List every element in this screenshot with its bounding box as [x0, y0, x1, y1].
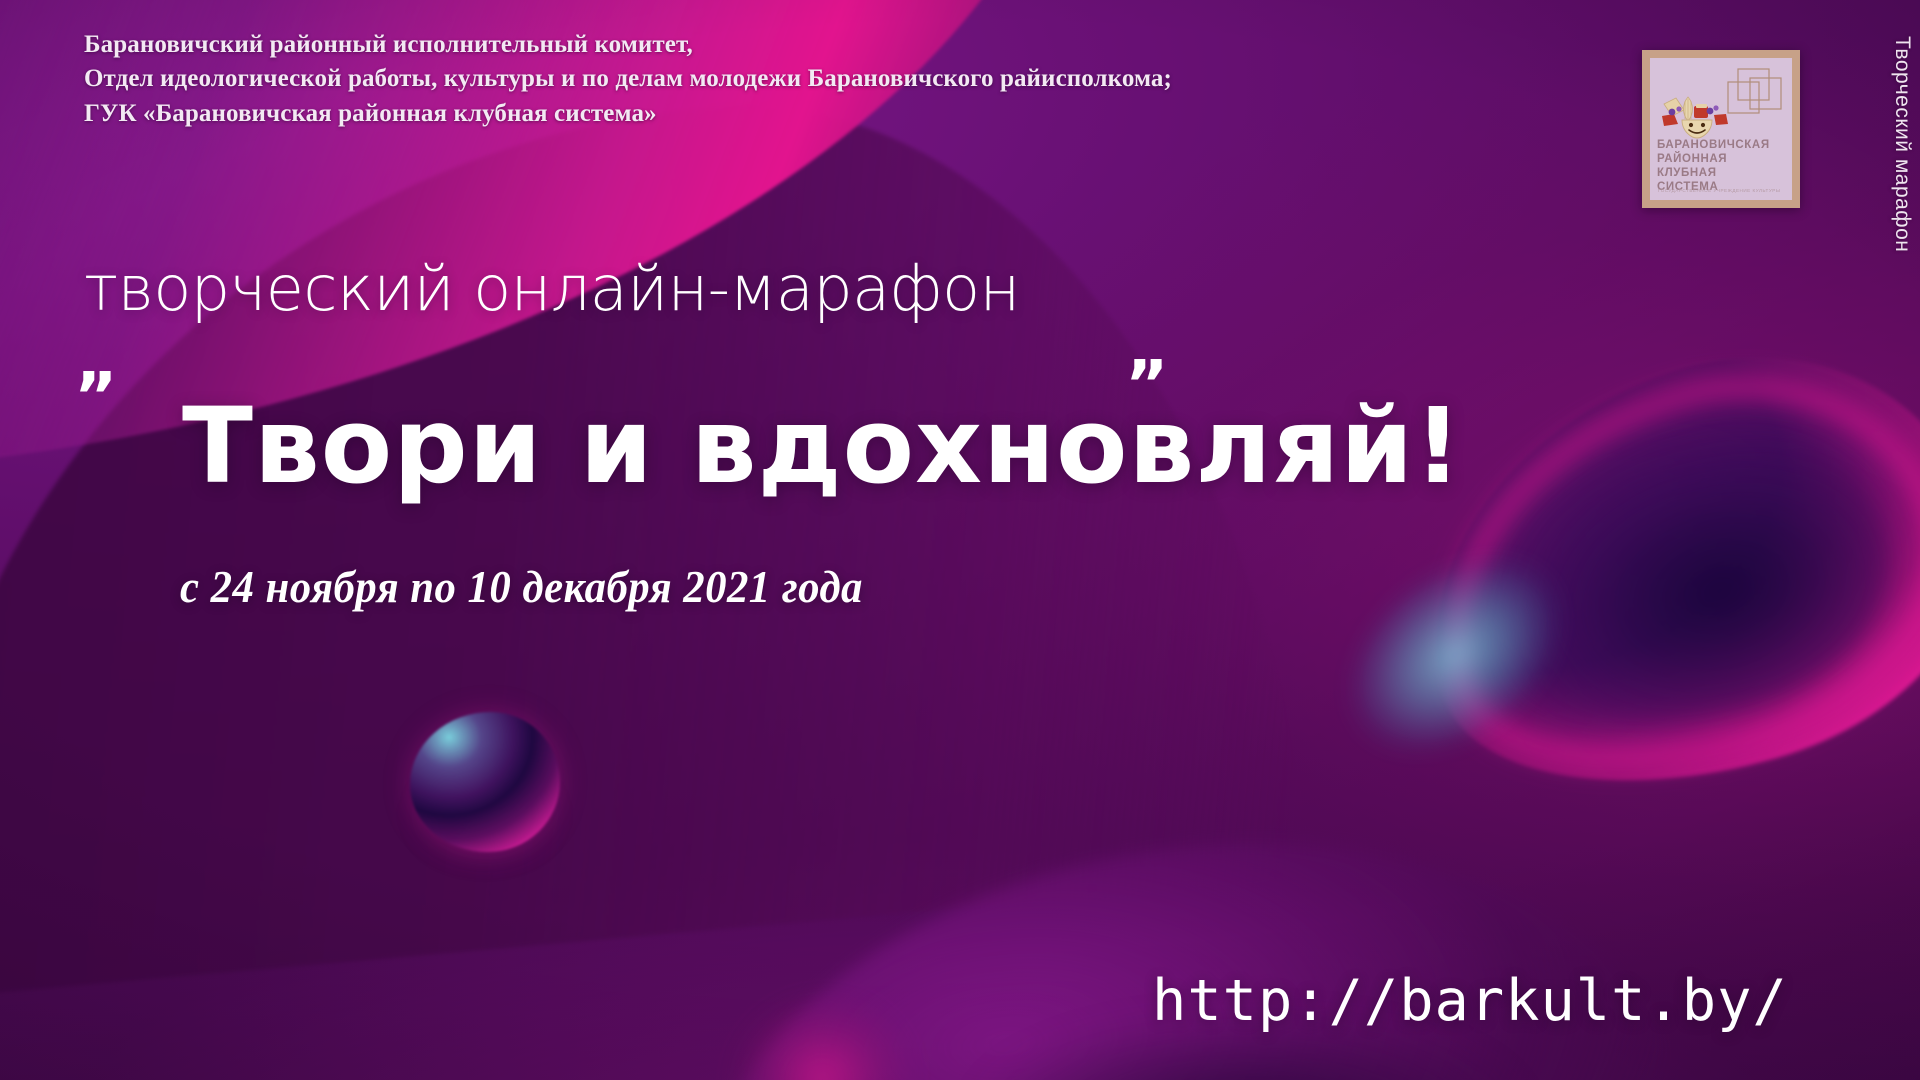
logo-name-block: БАРАНОВИЧСКАЯ РАЙОННАЯ КЛУБНАЯ СИСТЕМА — [1657, 138, 1788, 194]
poster-canvas: Барановичский районный исполнительный ко… — [0, 0, 1920, 1080]
headline-group: ” Твори и вдохновляй! ” — [74, 392, 1504, 532]
event-dates: с 24 ноября по 10 декабря 2021 года — [180, 560, 863, 613]
organizer-line-1: Барановичский районный исполнительный ко… — [84, 28, 1504, 62]
website-url[interactable]: http://barkult.by/ — [1152, 968, 1788, 1034]
logo-inner-field: БАРАНОВИЧСКАЯ РАЙОННАЯ КЛУБНАЯ СИСТЕМА Г… — [1647, 55, 1795, 203]
background-vignette — [0, 0, 1920, 1080]
event-headline: Твори и вдохновляй! — [182, 392, 1463, 501]
vertical-side-label: Творческий марафон — [1890, 36, 1914, 252]
logo-name-line-1: БАРАНОВИЧСКАЯ — [1657, 138, 1788, 152]
logo-name-line-3: КЛУБНАЯ — [1657, 166, 1788, 180]
quote-open-mark: ” — [74, 364, 117, 430]
quote-close-mark: ” — [1125, 352, 1168, 418]
club-system-logo: БАРАНОВИЧСКАЯ РАЙОННАЯ КЛУБНАЯ СИСТЕМА Г… — [1642, 50, 1800, 208]
organizer-header: Барановичский районный исполнительный ко… — [84, 28, 1504, 131]
logo-name-line-2: РАЙОННАЯ — [1657, 152, 1788, 166]
organizer-line-3: ГУК «Барановичская районная клубная сист… — [84, 97, 1504, 131]
theatre-mask-and-lyre-emblem — [1658, 94, 1736, 140]
organizer-line-2: Отдел идеологической работы, культуры и … — [84, 62, 1504, 96]
event-subtitle: творческий онлайн-марафон — [84, 252, 1020, 325]
logo-subtext: ГОСУДАРСТВЕННОЕ УЧРЕЖДЕНИЕ КУЛЬТУРЫ — [1658, 188, 1780, 193]
